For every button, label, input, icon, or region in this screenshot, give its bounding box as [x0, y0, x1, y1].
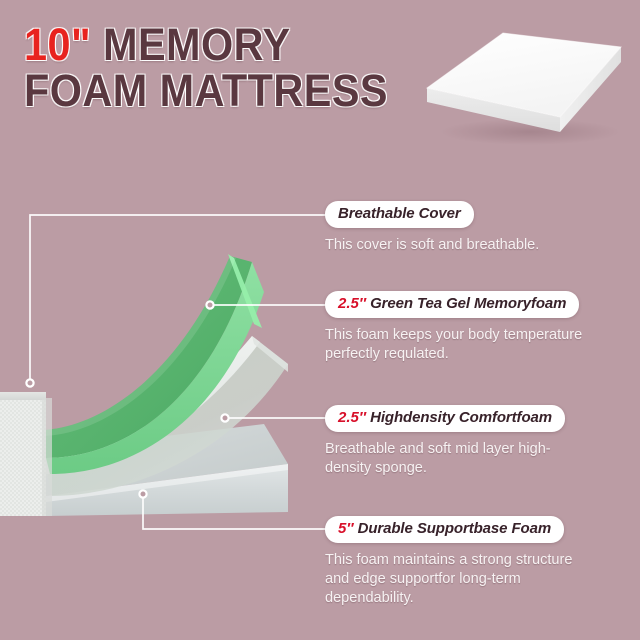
title-line-2: FOAM MATTRESS — [24, 68, 410, 114]
callout-measure-highdensity-comfortfoam: 2.5″ — [338, 409, 366, 426]
callout-pill-green-tea-gel-memoryfoam: 2.5″ Green Tea Gel Memoryfoam — [325, 291, 579, 318]
callout-pill-durable-supportbase-foam: 5″ Durable Supportbase Foam — [325, 516, 564, 543]
cover-top-edge — [0, 392, 46, 400]
mattress-cutaway-illustration — [0, 196, 320, 556]
cover-front-face — [0, 398, 46, 516]
callout-description-highdensity-comfortfoam: Breathable and soft mid layer high-densi… — [325, 439, 597, 477]
callout-durable-supportbase-foam: 5″ Durable Supportbase Foam This foam ma… — [325, 516, 605, 607]
callout-label-breathable-cover: Breathable Cover — [338, 205, 461, 222]
callout-pill-highdensity-comfortfoam: 2.5″ Highdensity Comfortfoam — [325, 405, 565, 432]
callout-label-green-tea-gel-memoryfoam: Green Tea Gel Memoryfoam — [366, 295, 566, 312]
page-title: 10" MEMORY FOAM MATTRESS — [24, 22, 444, 114]
product-photo-mattress — [425, 20, 630, 150]
title-line-1: 10" MEMORY — [24, 22, 410, 68]
callout-measure-green-tea-gel-memoryfoam: 2.5″ — [338, 295, 366, 312]
callout-label-highdensity-comfortfoam: Highdensity Comfortfoam — [366, 409, 552, 426]
infographic-root: 10" MEMORY FOAM MATTRESS — [0, 0, 640, 640]
callout-highdensity-comfortfoam: 2.5″ Highdensity Comfortfoam Breathable … — [325, 405, 605, 477]
cover-right-edge — [42, 398, 52, 516]
callout-description-durable-supportbase-foam: This foam maintains a strong structure a… — [325, 550, 597, 607]
callout-description-breathable-cover: This cover is soft and breathable. — [325, 235, 539, 254]
callout-measure-durable-supportbase-foam: 5″ — [338, 520, 354, 537]
callout-pill-breathable-cover: Breathable Cover — [325, 201, 474, 228]
title-line-1-rest: MEMORY — [91, 19, 290, 70]
callout-label-durable-supportbase-foam: Durable Supportbase Foam — [354, 520, 552, 537]
callout-green-tea-gel-memoryfoam: 2.5″ Green Tea Gel Memoryfoam This foam … — [325, 291, 605, 363]
callout-description-green-tea-gel-memoryfoam: This foam keeps your body temperature pe… — [325, 325, 597, 363]
callout-breathable-cover: Breathable Cover This cover is soft and … — [325, 201, 546, 254]
title-size-label: 10" — [24, 19, 91, 70]
layer-cover — [0, 392, 52, 516]
